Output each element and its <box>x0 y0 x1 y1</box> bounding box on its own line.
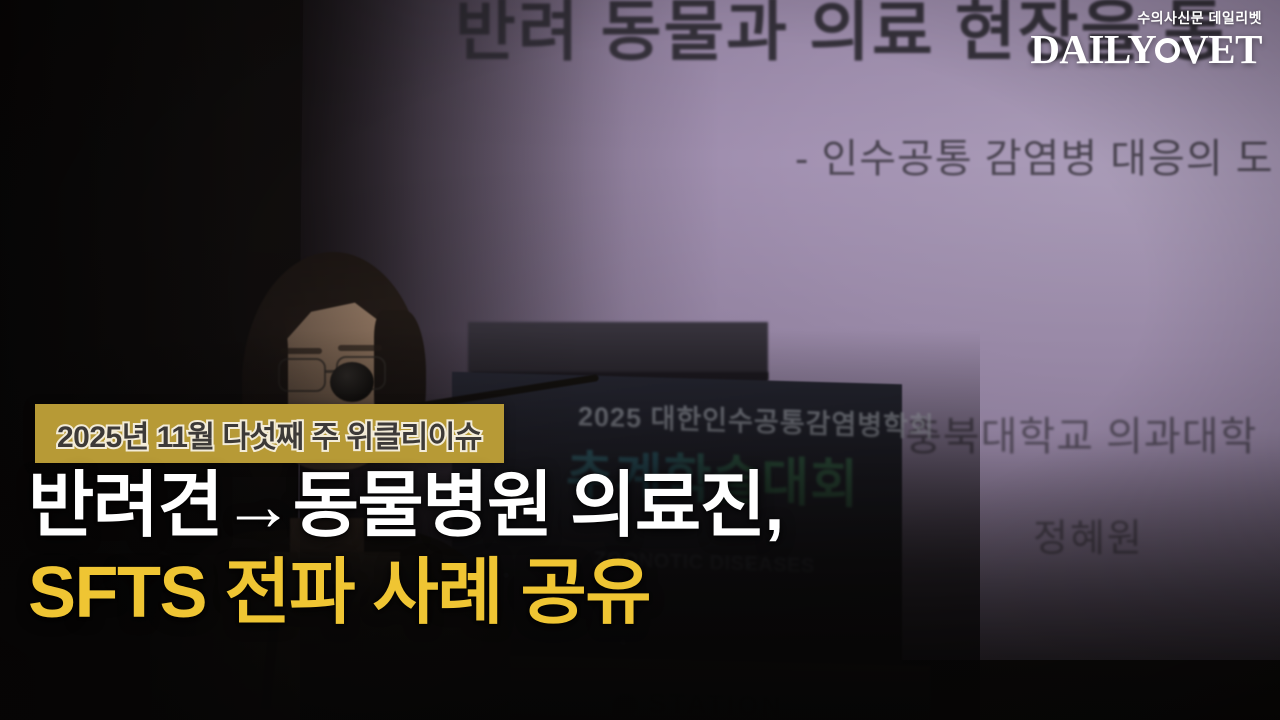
circle-o-icon <box>1155 38 1180 63</box>
headline-line-1: 반려견→동물병원 의료진, <box>28 470 783 543</box>
weekly-issue-thumbnail: 반려 동물과 의료 현장을 통 - 인수공통 감염병 대응의 도 충북대학교 의… <box>0 0 1280 720</box>
status-badge: 2025년 11월 다섯째 주 위클리이슈 <box>35 404 504 463</box>
headline-line-2: SFTS 전파 사례 공유 <box>28 557 783 630</box>
headline-block: 반려견→동물병원 의료진, SFTS 전파 사례 공유 <box>28 470 783 631</box>
badge-label: 2025년 11월 다섯째 주 위클리이슈 <box>57 412 482 456</box>
logo-word-daily: DAILY <box>1030 29 1156 69</box>
logo-tagline: 수의사신문 데일리벳 <box>1030 8 1262 28</box>
logo-wordmark: DAILYVET <box>1030 29 1262 69</box>
logo-word-vet: VET <box>1179 29 1262 69</box>
dailyvet-logo[interactable]: 수의사신문 데일리벳 DAILYVET <box>1030 8 1262 69</box>
